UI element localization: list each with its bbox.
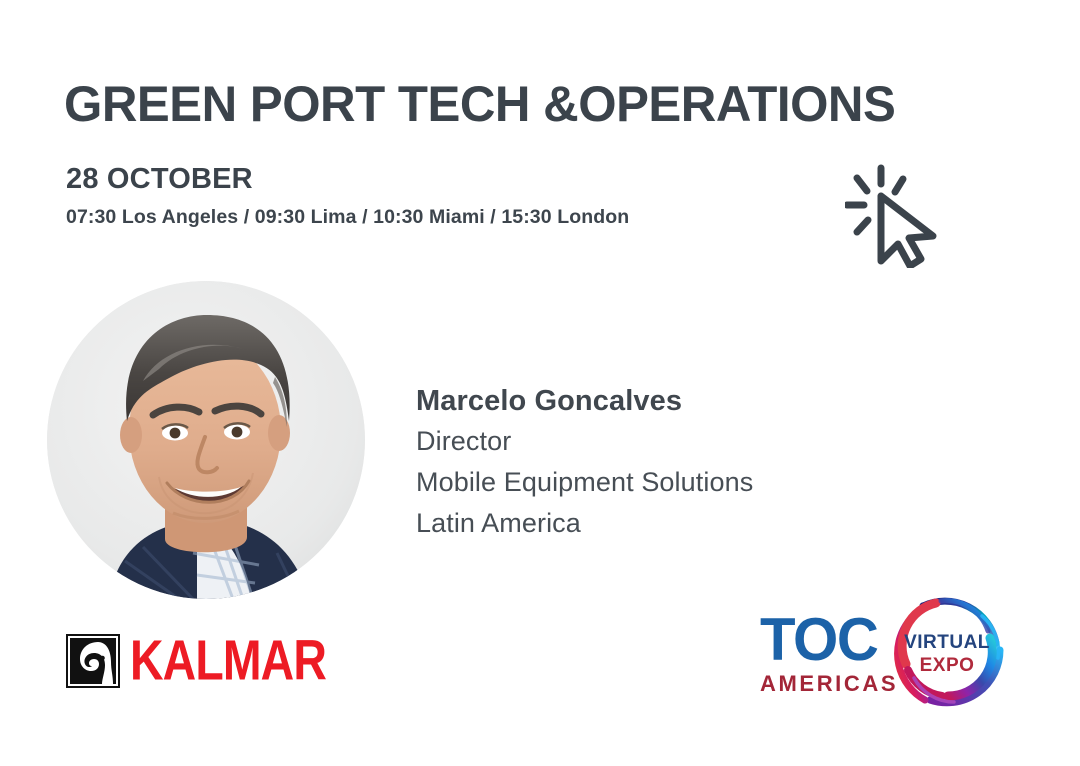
speaker-name: Marcelo Goncalves <box>416 381 753 421</box>
virtual-expo-line1: VIRTUAL <box>904 632 990 653</box>
virtual-expo-logo: VIRTUAL EXPO <box>884 586 1010 712</box>
speaker-region: Latin America <box>416 503 753 544</box>
virtual-expo-line2: EXPO <box>920 655 975 676</box>
event-timezones: 07:30 Los Angeles / 09:30 Lima / 10:30 M… <box>66 205 629 229</box>
webinar-promo-slide: GREEN PORT TECH &OPERATIONS 28 OCTOBER 0… <box>0 0 1080 766</box>
toc-subtitle: AMERICAS <box>760 672 898 696</box>
kalmar-logo: KALMAR <box>66 634 358 688</box>
speaker-role: Director <box>416 421 753 462</box>
kalmar-wordmark: KALMAR <box>130 633 326 689</box>
kalmar-elephant-icon <box>66 634 120 688</box>
event-date: 28 OCTOBER <box>66 162 253 196</box>
click-cursor-icon <box>845 158 965 268</box>
page-title: GREEN PORT TECH &OPERATIONS <box>64 76 895 132</box>
toc-americas-logo: TOC AMERICAS <box>760 612 898 696</box>
toc-wordmark: TOC <box>760 612 894 668</box>
speaker-department: Mobile Equipment Solutions <box>416 462 753 503</box>
avatar <box>47 281 365 599</box>
speaker-details: Marcelo Goncalves Director Mobile Equipm… <box>416 381 753 544</box>
